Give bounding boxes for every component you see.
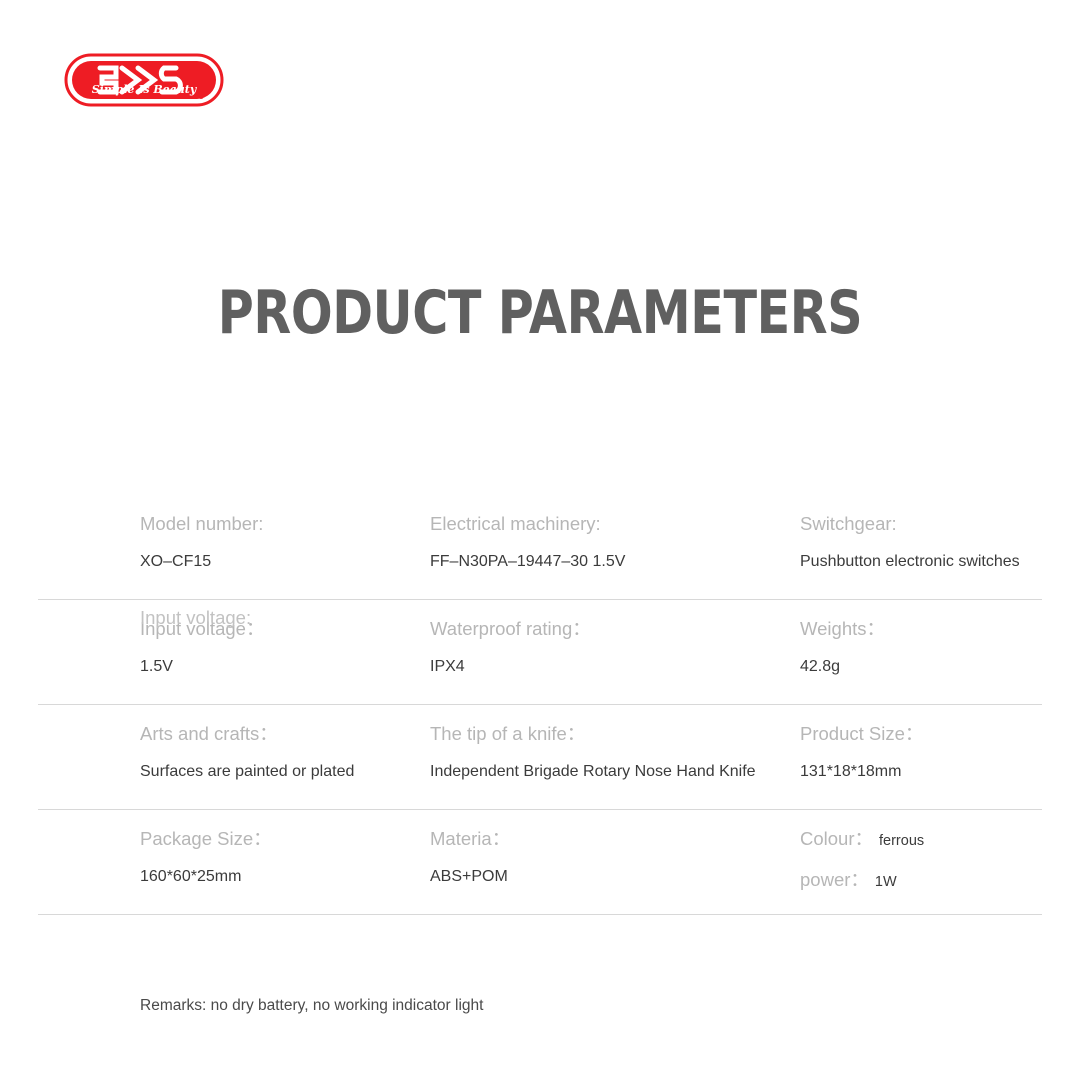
table-row: Package Size： 160*60*25mm Materia： ABS+P… [38, 810, 1042, 915]
spec-cell-input-voltage: Input voltage： Input voltage: 1.5V [140, 600, 430, 677]
spec-value: 160*60*25mm [140, 867, 430, 887]
spec-label: Switchgear: [800, 495, 1050, 535]
spec-value: XO–CF15 [140, 552, 430, 572]
product-parameters-table: Model number: XO–CF15 Electrical machine… [38, 495, 1042, 915]
spec-cell-materia: Materia： ABS+POM [430, 810, 800, 887]
spec-pair-power: power：1W [800, 869, 1050, 893]
table-row: Model number: XO–CF15 Electrical machine… [38, 495, 1042, 600]
spec-cell-model-number: Model number: XO–CF15 [140, 495, 430, 572]
spec-label: power： [800, 869, 869, 890]
spec-label: Product Size： [800, 705, 1050, 745]
table-row: Arts and crafts： Surfaces are painted or… [38, 705, 1042, 810]
spec-label: Electrical machinery: [430, 495, 800, 535]
spec-value: Surfaces are painted or plated [140, 762, 430, 782]
spec-value: FF–N30PA–19447–30 1.5V [430, 552, 800, 572]
spec-cell-package-size: Package Size： 160*60*25mm [140, 810, 430, 887]
spec-cell-waterproof-rating: Waterproof rating： IPX4 [430, 600, 800, 677]
spec-cell-colour-power: Colour：ferrous power：1W [800, 810, 1050, 893]
spec-label: Arts and crafts： [140, 705, 430, 745]
spec-value: Pushbutton electronic switches [800, 552, 1050, 572]
spec-label: Waterproof rating： [430, 600, 800, 640]
spec-value: ferrous [879, 833, 924, 849]
spec-pair-colour: Colour：ferrous [800, 828, 1050, 852]
spec-cell-arts-and-crafts: Arts and crafts： Surfaces are painted or… [140, 705, 430, 782]
brand-logo: Simple Is Beauty [64, 52, 224, 108]
spec-value: ABS+POM [430, 867, 800, 887]
spec-cell-switchgear: Switchgear: Pushbutton electronic switch… [800, 495, 1050, 572]
logo-tagline: Simple Is Beauty [92, 83, 198, 96]
spec-label: The tip of a knife： [430, 705, 800, 745]
spec-label: Package Size： [140, 810, 430, 850]
spec-cell-electrical-machinery: Electrical machinery: FF–N30PA–19447–30 … [430, 495, 800, 572]
spec-value: Independent Brigade Rotary Nose Hand Kni… [430, 762, 800, 782]
spec-label: Model number: [140, 495, 430, 535]
spec-label: Weights： [800, 600, 1050, 640]
table-row: Input voltage： Input voltage: 1.5V Water… [38, 600, 1042, 705]
spec-cell-weights: Weights： 42.8g [800, 600, 1050, 677]
spec-label: Colour： [800, 828, 873, 849]
spec-value: 42.8g [800, 657, 1050, 677]
page-title: PRODUCT PARAMETERS [97, 283, 983, 343]
spec-value: 1.5V [140, 657, 430, 677]
spec-value: IPX4 [430, 657, 800, 677]
spec-value: 1W [875, 874, 897, 890]
spec-cell-product-size: Product Size： 131*18*18mm [800, 705, 1050, 782]
spec-value: 131*18*18mm [800, 762, 1050, 782]
remarks-note: Remarks: no dry battery, no working indi… [140, 996, 483, 1016]
spec-cell-tip-of-a-knife: The tip of a knife： Independent Brigade … [430, 705, 800, 782]
spec-label: Materia： [430, 810, 800, 850]
spec-label-duplicate: Input voltage: [140, 607, 251, 629]
